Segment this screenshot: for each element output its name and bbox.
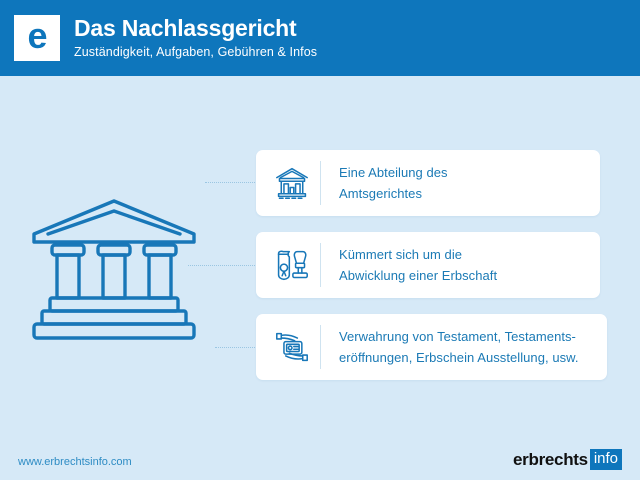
footer-logo-badge: info: [590, 449, 622, 470]
footer-logo-word: erbrechts: [513, 450, 588, 470]
info-card-1[interactable]: Eine Abteilung des Amtsgerichtes: [256, 150, 600, 216]
courthouse-icon: [266, 166, 318, 200]
info-card-3-text: Verwahrung von Testament, Testaments- er…: [323, 326, 607, 368]
courthouse-illustration: [28, 198, 200, 350]
connector-line-1: [205, 182, 257, 183]
logo-badge: e: [14, 15, 60, 61]
info-card-2-text: Kümmert sich um die Abwicklung einer Erb…: [323, 244, 600, 286]
logo-letter: e: [27, 18, 46, 54]
info-card-3[interactable]: Verwahrung von Testament, Testaments- er…: [256, 314, 607, 380]
connector-line-2: [188, 265, 257, 266]
footer-brand-logo[interactable]: erbrechts info: [513, 449, 622, 470]
info-card-1-text: Eine Abteilung des Amtsgerichtes: [323, 162, 600, 204]
infographic-page: e Das Nachlassgericht Zuständigkeit, Auf…: [0, 0, 640, 480]
stamp-seal-icon: [266, 248, 318, 282]
info-card-2[interactable]: Kümmert sich um die Abwicklung einer Erb…: [256, 232, 600, 298]
card-divider: [320, 325, 321, 369]
header-text-block: Das Nachlassgericht Zuständigkeit, Aufga…: [74, 15, 317, 61]
card-divider: [320, 243, 321, 287]
header-bar: e Das Nachlassgericht Zuständigkeit, Auf…: [0, 0, 640, 76]
connector-line-3: [215, 347, 257, 348]
page-subtitle: Zuständigkeit, Aufgaben, Gebühren & Info…: [74, 43, 317, 61]
footer-url[interactable]: www.erbrechtsinfo.com: [18, 455, 132, 469]
safe-hands-icon: [266, 330, 318, 364]
card-divider: [320, 161, 321, 205]
page-title: Das Nachlassgericht: [74, 15, 317, 41]
